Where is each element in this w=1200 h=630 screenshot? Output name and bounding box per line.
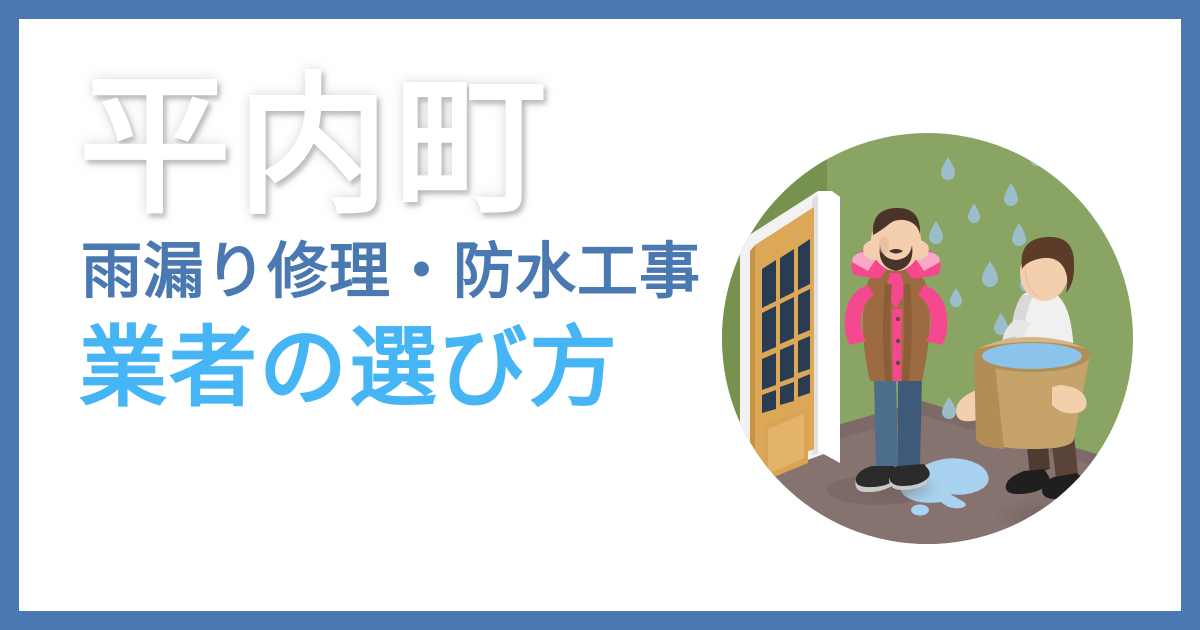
door-glass-panes bbox=[762, 239, 810, 413]
text-block: 平内町 雨漏り修理・防水工事 業者の選び方 bbox=[65, 71, 725, 412]
face-shade bbox=[879, 236, 889, 254]
page-title: 平内町 bbox=[79, 71, 725, 223]
bucket-water bbox=[982, 343, 1082, 369]
door-frame-right bbox=[818, 191, 840, 463]
banner-frame: 平内町 雨漏り修理・防水工事 業者の選び方 bbox=[0, 0, 1200, 630]
jeans-left bbox=[874, 378, 898, 468]
banner-inner: 平内町 雨漏り修理・防水工事 業者の選び方 bbox=[19, 19, 1181, 611]
illustration-roof-leak bbox=[722, 133, 1133, 544]
jeans-right bbox=[898, 378, 922, 468]
wooden-door-edge bbox=[750, 245, 755, 475]
subtitle-service: 雨漏り修理・防水工事 bbox=[81, 241, 725, 302]
tagline-how-to-choose: 業者の選び方 bbox=[79, 324, 725, 412]
